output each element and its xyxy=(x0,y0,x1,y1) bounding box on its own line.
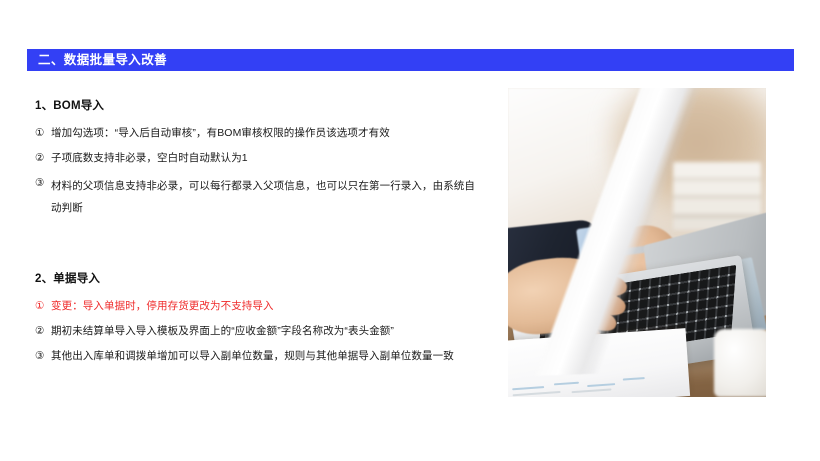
photo-report-bar xyxy=(513,387,545,391)
bullet-text: 变更：导入单据时，停用存货更改为不支持导入 xyxy=(51,299,485,313)
list-item-alert: ① 变更：导入单据时，停用存货更改为不支持导入 xyxy=(35,299,485,313)
content-column: 1、BOM导入 ① 增加勾选项：“导入后自动审核”，有BOM审核权限的操作员该选… xyxy=(35,100,485,363)
group-spacer xyxy=(35,219,485,273)
content-group-2: 2、单据导入 ① 变更：导入单据时，停用存货更改为不支持导入 ② 期初未结算单导… xyxy=(35,273,485,363)
photo-report-bar xyxy=(513,391,561,396)
photo-report-bar xyxy=(623,378,645,382)
list-item: ② 子项底数支持非必录，空白时自动默认为1 xyxy=(35,151,485,165)
section-title-bar: 二、数据批量导入改善 xyxy=(27,49,794,71)
bullet-marker: ② xyxy=(35,151,51,165)
list-item: ① 增加勾选项：“导入后自动审核”，有BOM审核权限的操作员该选项才有效 xyxy=(35,126,485,140)
photo-report-bar xyxy=(555,381,579,385)
bullet-marker: ② xyxy=(35,324,51,338)
bullet-text: 期初未结算单导入导入模板及界面上的“应收金额”字段名称改为“表头金额” xyxy=(51,324,485,338)
bullet-text: 其他出入库单和调拨单增加可以导入副单位数量，规则与其他单据导入副单位数量一致 xyxy=(51,349,485,363)
bullet-marker: ① xyxy=(35,299,51,313)
list-item: ③ 材料的父项信息支持非必录，可以每行都录入父项信息，也可以只在第一行录入，由系… xyxy=(35,176,485,219)
list-item: ③ 其他出入库单和调拨单增加可以导入副单位数量，规则与其他单据导入副单位数量一致 xyxy=(35,349,485,363)
slide-photo xyxy=(508,88,766,397)
slide-root: 二、数据批量导入改善 1、BOM导入 ① 增加勾选项：“导入后自动审核”，有BO… xyxy=(0,0,820,461)
bullet-marker: ① xyxy=(35,126,51,140)
photo-report-bar xyxy=(587,383,615,387)
photo-scene xyxy=(508,88,766,397)
bullet-marker: ③ xyxy=(35,176,51,190)
bullet-marker: ③ xyxy=(35,349,51,363)
bullet-text: 增加勾选项：“导入后自动审核”，有BOM审核权限的操作员该选项才有效 xyxy=(51,126,485,140)
bullet-text: 材料的父项信息支持非必录，可以每行都录入父项信息，也可以只在第一行录入，由系统自… xyxy=(51,176,485,219)
section-title-text: 二、数据批量导入改善 xyxy=(38,54,167,67)
group-heading-voucher-import: 2、单据导入 xyxy=(35,273,485,287)
photo-diagonal-paper xyxy=(508,88,766,379)
group-heading-bom-import: 1、BOM导入 xyxy=(35,100,485,114)
content-group-1: 1、BOM导入 ① 增加勾选项：“导入后自动审核”，有BOM审核权限的操作员该选… xyxy=(35,100,485,219)
photo-report-bar xyxy=(571,389,611,394)
list-item: ② 期初未结算单导入导入模板及界面上的“应收金额”字段名称改为“表头金额” xyxy=(35,324,485,338)
bullet-text: 子项底数支持非必录，空白时自动默认为1 xyxy=(51,151,485,165)
